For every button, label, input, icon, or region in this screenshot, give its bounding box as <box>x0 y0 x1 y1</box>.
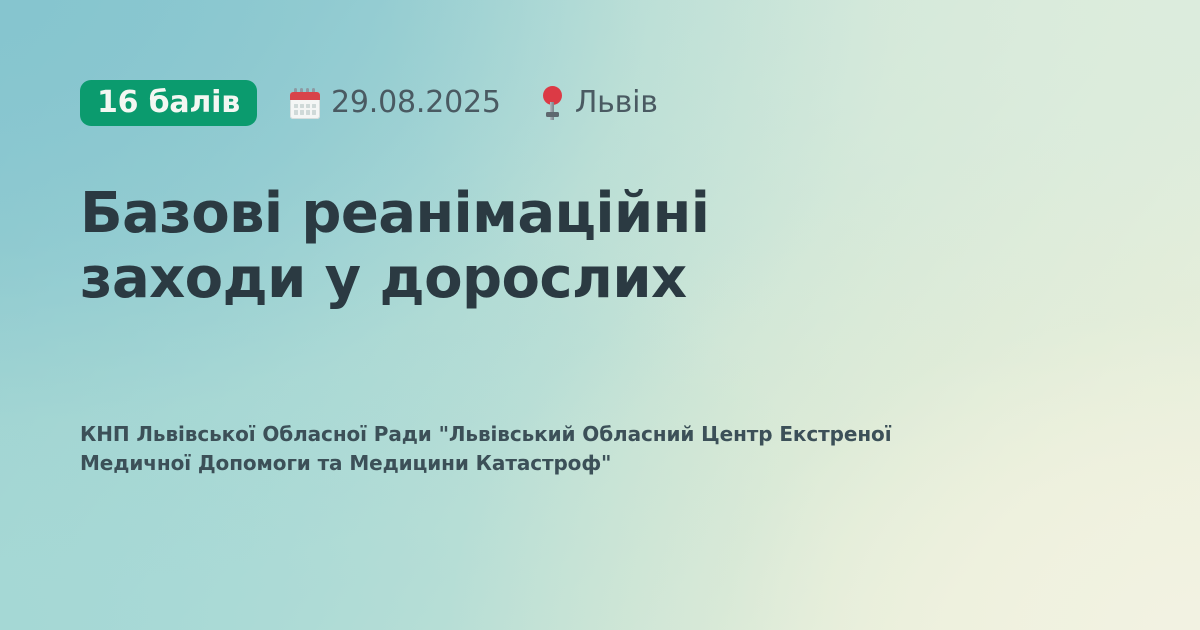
meta-row: 16 балів 29.08.2025 Львів <box>80 80 1120 126</box>
calendar-icon <box>290 88 320 119</box>
date-value: 29.08.2025 <box>331 88 501 118</box>
page-title: Базові реанімаційні заходи у дорослих <box>80 182 910 312</box>
location-value: Львів <box>575 88 658 118</box>
points-badge: 16 балів <box>80 80 257 126</box>
organization-footer: КНП Львівської Обласної Ради "Львівський… <box>80 420 910 478</box>
round-pushpin-icon <box>543 86 562 120</box>
date-meta-item: 29.08.2025 <box>290 88 501 119</box>
location-meta-item: Львів <box>543 86 658 120</box>
layout-spacer <box>80 349 1120 419</box>
event-share-card: 16 балів 29.08.2025 Львів Базові реан <box>0 0 1200 630</box>
